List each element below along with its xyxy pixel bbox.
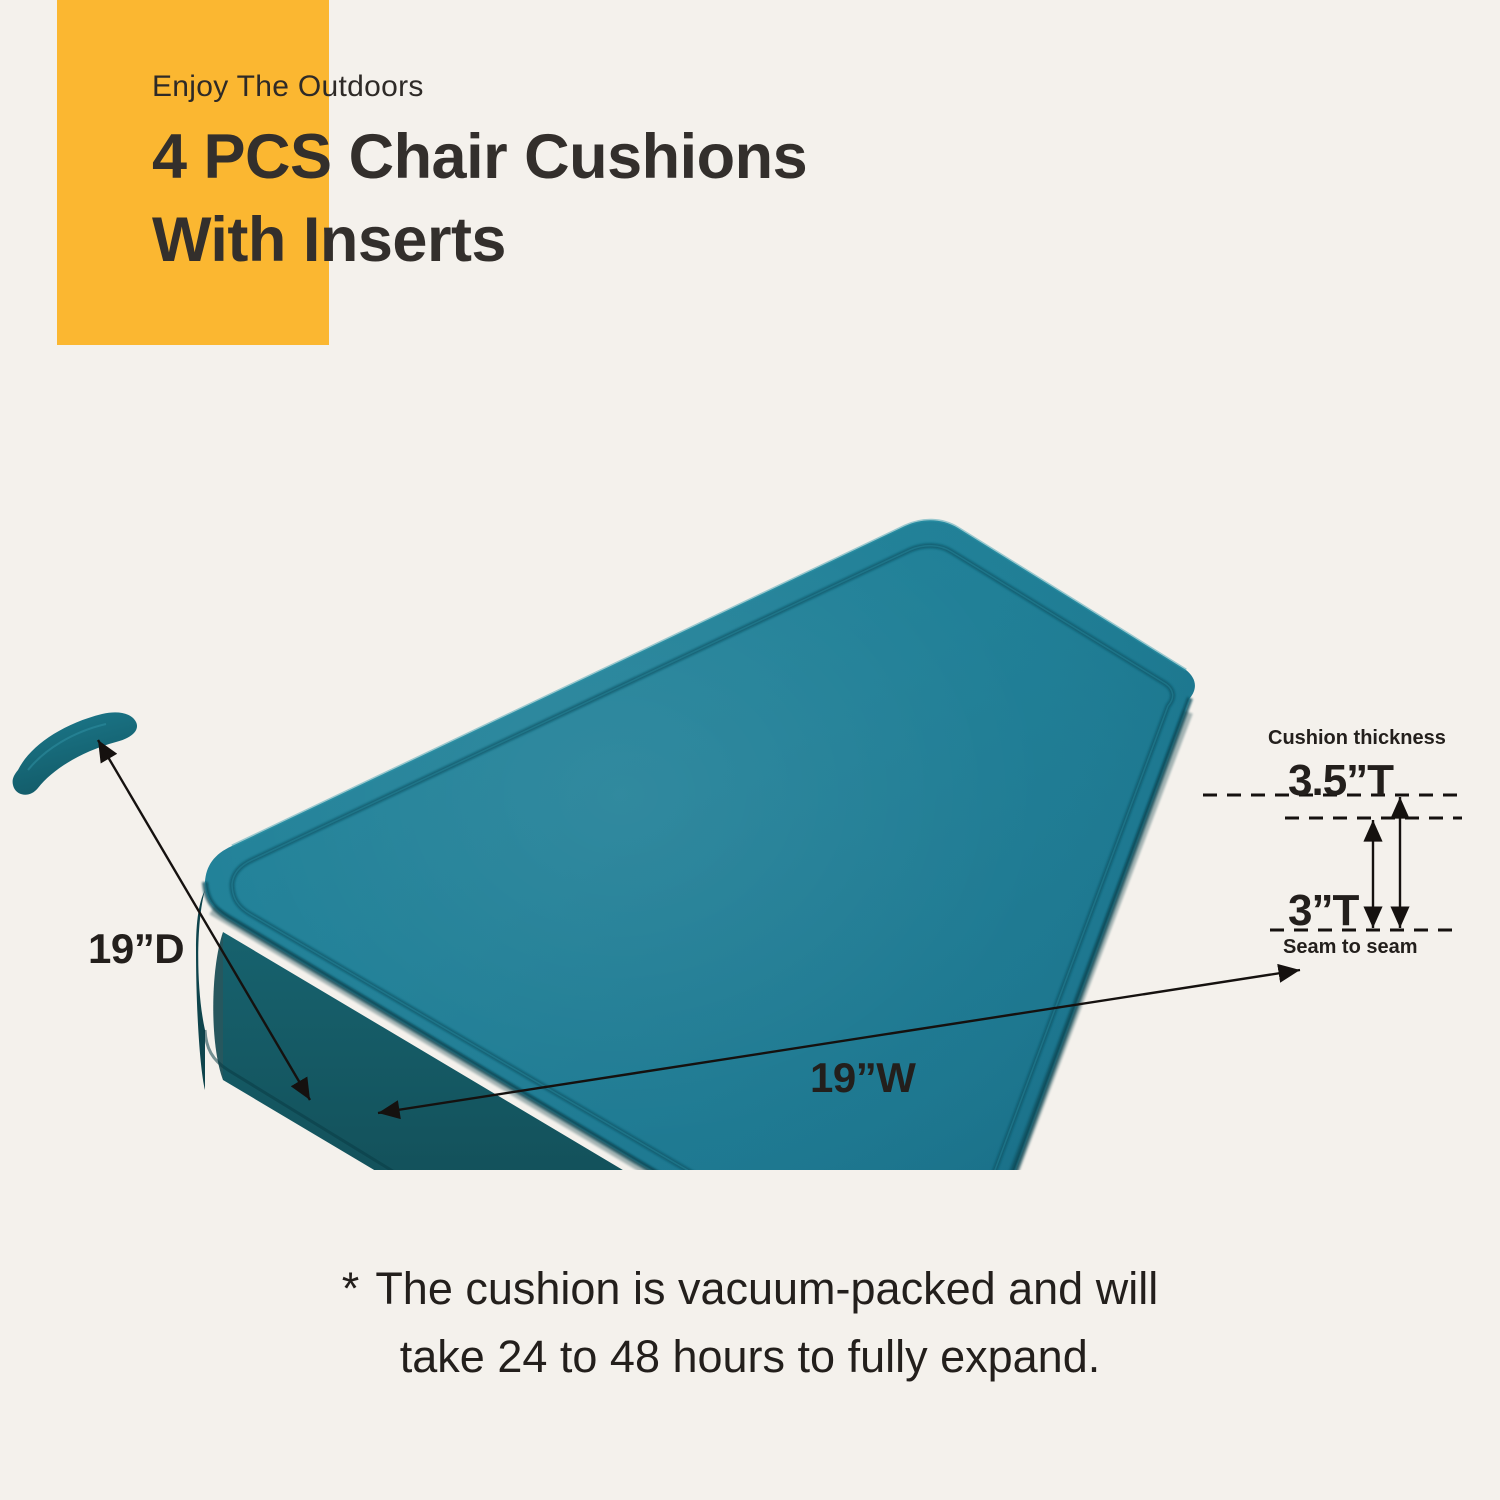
cushion-svg bbox=[0, 470, 1500, 1170]
depth-label: 19”D bbox=[88, 925, 184, 973]
headline-line-2: With Inserts bbox=[152, 199, 1252, 282]
header-text-group: Enjoy The Outdoors 4 PCS Chair Cushions … bbox=[152, 72, 1252, 282]
width-label: 19”W bbox=[810, 1054, 915, 1102]
headline-line-1: 4 PCS Chair Cushions bbox=[152, 116, 1252, 199]
page-title: 4 PCS Chair Cushions With Inserts bbox=[152, 116, 1252, 282]
cushion-tie-strap bbox=[13, 712, 137, 794]
seam-to-seam-caption: Seam to seam bbox=[1283, 936, 1418, 959]
eyebrow-text: Enjoy The Outdoors bbox=[152, 72, 1252, 102]
footnote-text-1: The cushion is vacuum-packed and will bbox=[375, 1263, 1158, 1314]
seam-thickness-label: 3”T bbox=[1288, 886, 1358, 936]
footnote: *The cushion is vacuum-packed and will t… bbox=[0, 1255, 1500, 1390]
footnote-line-2: take 24 to 48 hours to fully expand. bbox=[0, 1323, 1500, 1391]
cushion-thickness-caption: Cushion thickness bbox=[1268, 727, 1446, 750]
footnote-line-1: *The cushion is vacuum-packed and will bbox=[0, 1255, 1500, 1323]
product-infographic: Enjoy The Outdoors 4 PCS Chair Cushions … bbox=[0, 0, 1500, 1500]
total-thickness-label: 3.5”T bbox=[1288, 756, 1393, 806]
asterisk-icon: * bbox=[342, 1263, 360, 1314]
product-illustration bbox=[0, 470, 1500, 1170]
